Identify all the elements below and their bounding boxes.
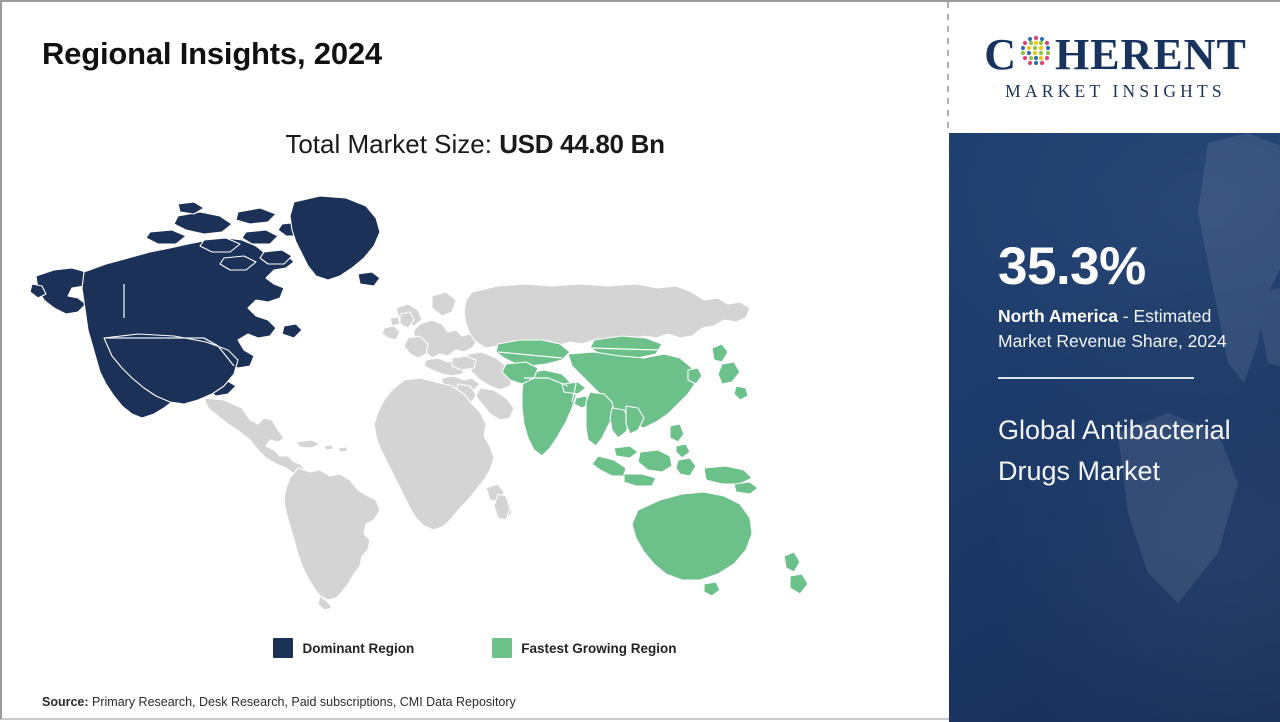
logo-wordmark: C xyxy=(966,33,1266,77)
stat-divider-rule xyxy=(998,377,1194,379)
square-swatch-icon xyxy=(273,638,293,658)
world-map xyxy=(28,188,838,618)
market-size-label: Total Market Size: xyxy=(285,129,499,159)
stat-region-name: North America xyxy=(998,306,1118,326)
map-region-fastest-growing xyxy=(496,336,808,596)
map-legend: Dominant Region Fastest Growing Region xyxy=(2,638,948,658)
stat-description: North America - Estimated Market Revenue… xyxy=(998,304,1252,355)
stat-panel-content: 35.3% North America - Estimated Market R… xyxy=(949,133,1280,492)
total-market-size: Total Market Size: USD 44.80 Bn xyxy=(2,129,948,160)
map-region-dominant xyxy=(30,196,380,418)
source-label: Source: xyxy=(42,695,89,709)
source-note: Source: Primary Research, Desk Research,… xyxy=(42,695,516,709)
stat-percentage: 35.3% xyxy=(998,240,1252,293)
logo-subtitle: MARKET INSIGHTS xyxy=(966,81,1266,102)
regional-stat-panel: 35.3% North America - Estimated Market R… xyxy=(949,133,1280,722)
market-name: Global Antibacterial Drugs Market xyxy=(998,410,1248,492)
legend-item-dominant: Dominant Region xyxy=(273,638,414,658)
legend-label-dominant: Dominant Region xyxy=(302,641,414,656)
market-size-value: USD 44.80 Bn xyxy=(499,129,664,159)
legend-item-fastest-growing: Fastest Growing Region xyxy=(492,638,676,658)
page-title: Regional Insights, 2024 xyxy=(42,36,382,72)
source-text: Primary Research, Desk Research, Paid su… xyxy=(89,695,516,709)
globe-dots-icon xyxy=(1018,33,1054,77)
world-map-container xyxy=(28,188,838,618)
coherent-market-insights-logo: C xyxy=(966,33,1266,102)
logo-word-start: C xyxy=(984,33,1017,77)
brand-logo-area: C xyxy=(949,2,1280,133)
logo-word-end: HERENT xyxy=(1055,33,1247,77)
square-swatch-icon xyxy=(492,638,512,658)
legend-label-fastest-growing: Fastest Growing Region xyxy=(521,641,676,656)
left-content-pane: Regional Insights, 2024 Total Market Siz… xyxy=(2,2,948,722)
regional-insights-slide: Regional Insights, 2024 Total Market Siz… xyxy=(0,0,1280,720)
